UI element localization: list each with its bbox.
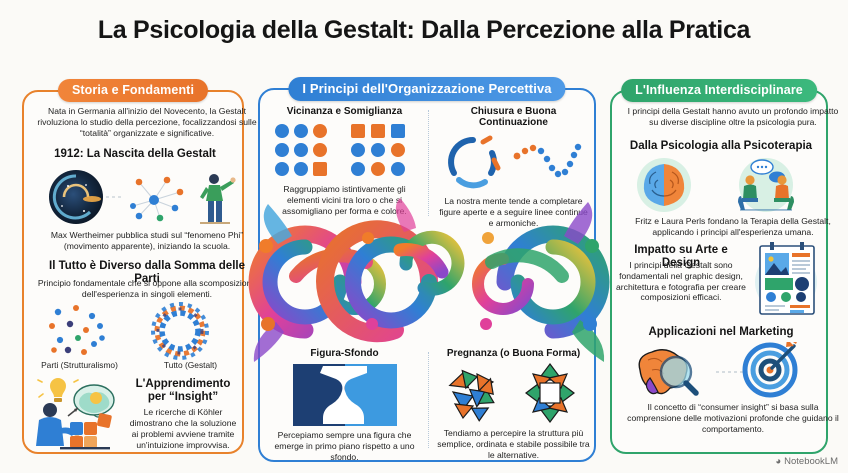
therapy-session-icon: [738, 158, 794, 212]
right-section1-heading: Dalla Psicologia alla Psicoterapia: [612, 140, 830, 153]
left-insight-text-block: L'Apprendimento per “Insight” Le ricerch…: [126, 376, 240, 451]
watermark-label: NotebookLM: [784, 456, 838, 467]
gestalt-swirl-infinity-icon: [248, 198, 610, 366]
infographic-page: La Psicologia della Gestalt: Dalla Perce…: [0, 0, 848, 473]
parts-vs-whole-icon: [34, 300, 236, 362]
column-influenza-interdisciplinare: L'Influenza Interdisciplinare I principi…: [610, 90, 828, 454]
left-section1-text: Max Wertheimer pubblica studi sul “fenom…: [24, 230, 270, 252]
chip-principi-organizzazione: I Principi dell'Organizzazione Percettiv…: [288, 77, 565, 101]
principle-text: Tendiamo a percepire la struttura più se…: [437, 428, 590, 460]
dots-grid-shapes-icon: [268, 122, 421, 180]
left-insight-block: L'Apprendimento per “Insight” Le ricerch…: [30, 376, 240, 451]
right-section2-text: I principi della Gestalt sono fondamenta…: [616, 260, 746, 303]
column-principi-organizzazione: I Principi dell'Organizzazione Percettiv…: [258, 88, 596, 462]
split-brain-icon: [637, 158, 691, 212]
principle-heading: Figura-Sfondo: [268, 348, 421, 359]
left-section1-heading: 1912: La Nascita della Gestalt: [24, 148, 246, 161]
rubin-vase-icon: [293, 364, 397, 426]
insight-puzzle-brain-icon: [30, 376, 122, 450]
target-arrow-icon: [745, 342, 799, 395]
right-section1-text: Fritz e Laura Perls fondano la Terapia d…: [612, 216, 848, 238]
galaxy-network-person-icon: [34, 166, 236, 228]
watermark: ◕ NotebookLM: [775, 456, 838, 467]
left-intro-text: Nata in Germania all'inizio del Novecent…: [24, 106, 270, 138]
chip-storia-e-fondamenti: Storia e Fondamenti: [58, 79, 208, 102]
column-storia-e-fondamenti: Storia e Fondamenti Nata in Germania all…: [22, 90, 244, 454]
right-intro-text: I principi della Gestalt hanno avuto un …: [612, 106, 848, 128]
design-layout-board-icon: [748, 240, 824, 318]
chaos-vs-order-shapes-icon: [437, 362, 590, 424]
right-section3-text: Il concetto di “consumer insight” si bas…: [612, 402, 848, 434]
principles-bottom-row: Figura-Sfondo Percepiamo sempre una figu…: [260, 348, 598, 462]
psychotherapy-icons-row: [622, 156, 820, 214]
caption-tutto: Tutto (Gestalt): [135, 360, 246, 370]
notebooklm-logo-icon: ◕: [775, 456, 781, 467]
principle-heading: Chiusura e Buona Continuazione: [437, 106, 590, 128]
chip-influenza-interdisciplinare: L'Influenza Interdisciplinare: [621, 79, 817, 102]
left-section3-heading: L'Apprendimento per “Insight”: [126, 378, 240, 404]
brain-magnifier-icon: [639, 350, 744, 394]
left-section3-text: Le ricerche di Köhler dimostrano che la …: [126, 407, 240, 450]
marketing-icons-row: [628, 342, 814, 400]
right-section3-heading: Applicazioni nel Marketing: [612, 326, 830, 339]
caption-parti: Parti (Strutturalismo): [24, 360, 135, 370]
principle-pregnanza: Pregnanza (o Buona Forma): [429, 348, 598, 462]
principle-text: Percepiamo sempre una figura che emerge …: [268, 430, 421, 462]
principle-heading: Vicinanza e Somiglianza: [268, 106, 421, 117]
principle-figura-sfondo: Figura-Sfondo Percepiamo sempre una figu…: [260, 348, 429, 462]
left-section2-text: Principio fondamentale che si oppone all…: [24, 278, 270, 300]
principle-heading: Pregnanza (o Buona Forma): [437, 348, 590, 359]
page-title: La Psicologia della Gestalt: Dalla Perce…: [0, 16, 848, 45]
broken-circle-wave-icon: [437, 134, 590, 192]
left-captions-row: Parti (Strutturalismo) Tutto (Gestalt): [24, 360, 246, 370]
